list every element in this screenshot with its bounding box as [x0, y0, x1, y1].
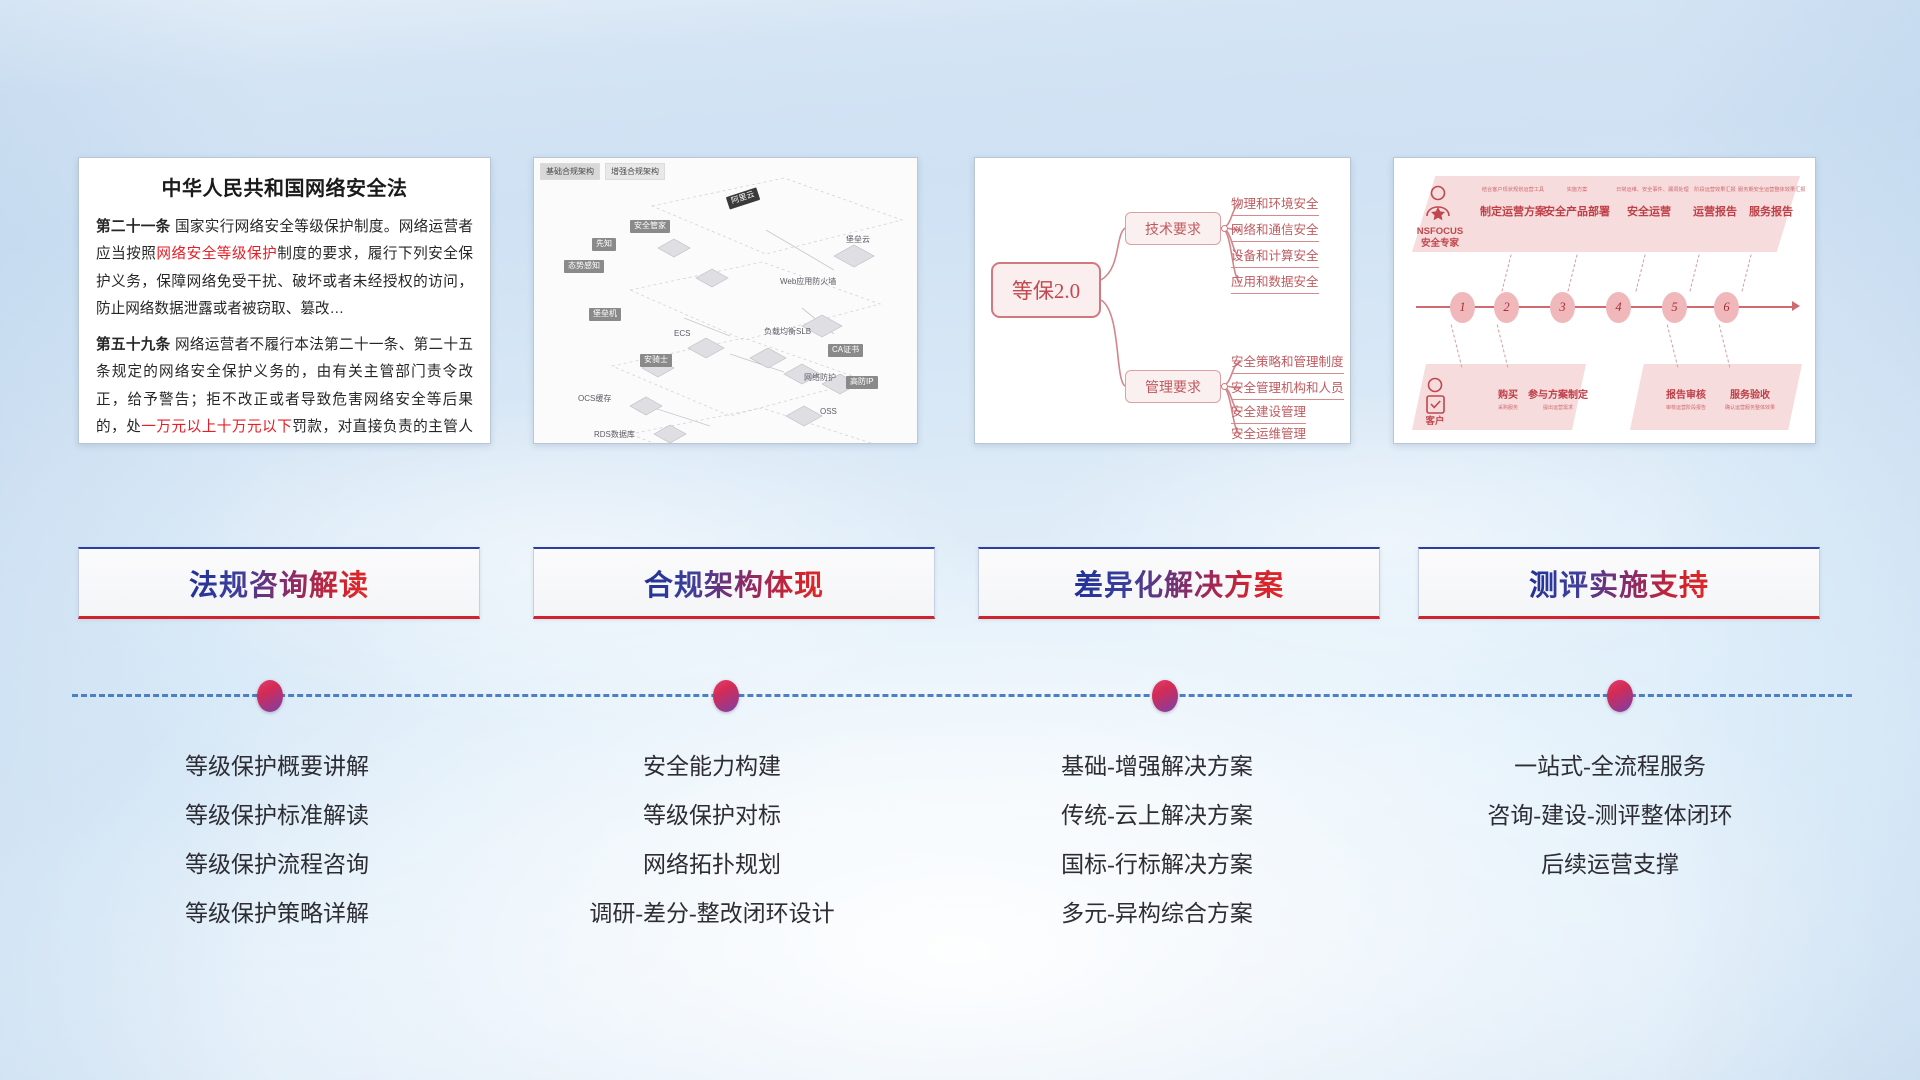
section-item: 传统-云上解决方案: [937, 791, 1377, 840]
timeline-step-subtitle: 服务期安全运营整体效果汇报: [1738, 188, 1804, 194]
timeline-step-title: 安全产品部署: [1544, 203, 1610, 219]
architecture-node-label: 安全管家: [630, 220, 670, 233]
timeline-step-number[interactable]: 2: [1494, 292, 1519, 323]
mindmap-leaf[interactable]: 物理和环境安全: [1231, 196, 1319, 216]
architecture-node-label: OSS: [820, 408, 837, 417]
timeline-step-number[interactable]: 1: [1450, 292, 1475, 323]
timeline-customer-step: 报告审核审核运营阶段报告: [1650, 386, 1722, 411]
timeline-step-number[interactable]: 3: [1550, 292, 1575, 323]
architecture-node-label: RDS数据库: [594, 431, 635, 440]
timeline-step-number[interactable]: 4: [1606, 292, 1631, 323]
preview-cards-row: 中华人民共和国网络安全法 第二十一条 国家实行网络安全等级保护制度。网络运营者应…: [0, 0, 1920, 450]
timeline-step-number[interactable]: 6: [1714, 292, 1739, 323]
timeline-dash: [1635, 254, 1645, 291]
mindmap-leaf[interactable]: 安全建设管理: [1231, 404, 1306, 424]
law-title: 中华人民共和国网络安全法: [96, 172, 473, 201]
timeline-step-subtitle: 结合客户现状规划运营工具: [1480, 188, 1546, 194]
expert-avatar-icon: [1420, 184, 1460, 230]
architecture-node-label: 态势感知: [564, 260, 604, 273]
section-items-compliance-architecture: 安全能力构建等级保护对标网络拓扑规划调研-差分-整改闭环设计: [492, 742, 932, 938]
law-article-59-highlight-1: 一万元以上十万元以下: [141, 419, 292, 435]
mindmap-node-technical-requirements[interactable]: 技术要求: [1125, 212, 1221, 245]
timeline-vendor-step: 结合客户现状规划运营工具制定运营方案: [1480, 188, 1546, 219]
card-nsfocus-service-timeline[interactable]: NSFOCUS 安全专家 结合客户现状规划运营工具制定运营方案实施方案安全产品部…: [1393, 157, 1816, 444]
rail-node-1[interactable]: [257, 680, 283, 712]
section-item: 国标-行标解决方案: [937, 840, 1377, 889]
mindmap-collapse-icon-mgmt[interactable]: [1221, 383, 1228, 390]
mindmap-leaf[interactable]: 设备和计算安全: [1231, 248, 1319, 268]
architecture-node-label: 堡垒机: [589, 308, 621, 321]
architecture-node-label: CA证书: [828, 344, 863, 357]
architecture-node-label: 堡垒云: [846, 236, 870, 245]
timeline-step-title: 制定运营方案: [1480, 203, 1546, 219]
section-item: 网络拓扑规划: [492, 840, 932, 889]
timeline-customer-step-subtitle: 审核运营阶段报告: [1650, 404, 1722, 411]
law-article-21: 第二十一条 国家实行网络安全等级保护制度。网络运营者应当按照网络安全等级保护制度…: [96, 214, 473, 324]
timeline-customer-step: 服务验收确认运营服务整体效果: [1714, 386, 1786, 411]
architecture-node-label: ECS: [674, 330, 690, 339]
customer-avatar-icon: [1420, 376, 1452, 420]
mindmap-leaf[interactable]: 安全运维管理: [1231, 426, 1306, 444]
persona-vendor-line1: NSFOCUS: [1404, 226, 1476, 238]
timeline-arrow-icon: [1792, 301, 1800, 311]
mindmap-leaf[interactable]: 应用和数据安全: [1231, 274, 1319, 294]
card-cybersecurity-law[interactable]: 中华人民共和国网络安全法 第二十一条 国家实行网络安全等级保护制度。网络运营者应…: [78, 157, 491, 444]
persona-label-customer: 客户: [1400, 416, 1470, 428]
section-item: 等级保护流程咨询: [57, 840, 497, 889]
timeline-vendor-step: 实施方案安全产品部署: [1544, 188, 1610, 219]
section-item: 等级保护标准解读: [57, 791, 497, 840]
mindmap-root-node[interactable]: 等保2.0: [991, 262, 1101, 318]
rail-node-4[interactable]: [1607, 680, 1633, 712]
section-header-label: 合规架构体现: [644, 562, 824, 604]
timeline-step-title: 安全运营: [1616, 203, 1682, 219]
timeline-dash: [1741, 254, 1751, 291]
rail-node-2[interactable]: [713, 680, 739, 712]
timeline-dash: [1567, 254, 1577, 291]
law-article-21-label: 第二十一条: [96, 219, 171, 235]
section-item: 一站式-全流程服务: [1390, 742, 1830, 791]
mindmap-leaf[interactable]: 安全管理机构和人员: [1231, 380, 1344, 400]
architecture-node-label: OCS缓存: [578, 395, 611, 404]
section-header-evaluation-support[interactable]: 测评实施支持: [1418, 547, 1820, 619]
persona-customer-line1: 客户: [1400, 416, 1470, 428]
section-header-label: 差异化解决方案: [1074, 562, 1284, 604]
timeline-dash: [1497, 325, 1509, 368]
section-items-evaluation-support: 一站式-全流程服务咨询-建设-测评整体闭环后续运营支撑: [1390, 742, 1830, 889]
card-dengbao-mindmap[interactable]: 等保2.0 技术要求 管理要求 物理和环境安全网络和通信安全设备和计算安全应用和…: [974, 157, 1351, 444]
mindmap-node-management-requirements[interactable]: 管理要求: [1125, 370, 1221, 403]
architecture-node-label: 负载均衡SLB: [764, 328, 811, 337]
mindmap-collapse-icon-tech[interactable]: [1221, 225, 1228, 232]
timeline-dash: [1719, 325, 1731, 368]
section-header-differentiated-solution[interactable]: 差异化解决方案: [978, 547, 1380, 619]
architecture-node-label: 先知: [592, 238, 616, 251]
timeline-dash: [1501, 254, 1511, 291]
timeline-customer-step-subtitle: 提出运营需求: [1522, 404, 1594, 411]
section-header-label: 测评实施支持: [1529, 562, 1709, 604]
timeline-customer-step-title: 报告审核: [1650, 386, 1722, 401]
persona-vendor-line2: 安全专家: [1404, 238, 1476, 250]
rail-node-3[interactable]: [1152, 680, 1178, 712]
architecture-node-label: 网络防护: [804, 374, 836, 383]
timeline-step-number[interactable]: 5: [1662, 292, 1687, 323]
timeline-dash: [1667, 325, 1679, 368]
section-item: 等级保护策略详解: [57, 889, 497, 938]
card-compliance-architecture[interactable]: 基础合规架构 增强合规架构: [533, 157, 918, 444]
architecture-node-label: 安骑士: [640, 354, 672, 367]
timeline-vendor-step: 服务期安全运营整体效果汇报服务报告: [1738, 188, 1804, 219]
architecture-node-label: Web应用防火墙: [780, 278, 836, 287]
law-article-59: 第五十九条 网络运营者不履行本法第二十一条、第二十五条规定的网络安全保护义务的，…: [96, 332, 473, 444]
timeline-customer-step-title: 参与方案制定: [1522, 386, 1594, 401]
timeline-dash: [1451, 325, 1463, 368]
timeline-step-title: 服务报告: [1738, 203, 1804, 219]
timeline-step-subtitle: 日常运维、安全事件、漏洞处理: [1616, 188, 1682, 194]
section-items-regulation-consulting: 等级保护概要讲解等级保护标准解读等级保护流程咨询等级保护策略详解: [57, 742, 497, 938]
timeline-customer-step-title: 服务验收: [1714, 386, 1786, 401]
timeline-step-subtitle: 实施方案: [1544, 188, 1610, 194]
timeline-rail: [72, 694, 1852, 697]
section-header-regulation-consulting[interactable]: 法规咨询解读: [78, 547, 480, 619]
section-item: 等级保护概要讲解: [57, 742, 497, 791]
timeline-customer-step: 参与方案制定提出运营需求: [1522, 386, 1594, 411]
section-header-compliance-architecture[interactable]: 合规架构体现: [533, 547, 935, 619]
mindmap-leaf[interactable]: 安全策略和管理制度: [1231, 354, 1344, 374]
section-item: 后续运营支撑: [1390, 840, 1830, 889]
law-article-21-highlight: 网络安全等级保护: [156, 246, 277, 262]
section-item: 多元-异构综合方案: [937, 889, 1377, 938]
section-item: 咨询-建设-测评整体闭环: [1390, 791, 1830, 840]
section-item: 基础-增强解决方案: [937, 742, 1377, 791]
section-item: 调研-差分-整改闭环设计: [492, 889, 932, 938]
timeline-dash: [1689, 254, 1699, 291]
section-header-label: 法规咨询解读: [189, 562, 369, 604]
law-article-59-label: 第五十九条: [96, 337, 171, 353]
timeline-vendor-step: 日常运维、安全事件、漏洞处理安全运营: [1616, 188, 1682, 219]
section-items-differentiated-solution: 基础-增强解决方案传统-云上解决方案国标-行标解决方案多元-异构综合方案: [937, 742, 1377, 938]
section-item: 等级保护对标: [492, 791, 932, 840]
persona-label-vendor: NSFOCUS 安全专家: [1404, 226, 1476, 250]
mindmap-leaf[interactable]: 网络和通信安全: [1231, 222, 1319, 242]
section-item: 安全能力构建: [492, 742, 932, 791]
architecture-node-label: 高防IP: [846, 376, 878, 389]
timeline-customer-step-subtitle: 确认运营服务整体效果: [1714, 404, 1786, 411]
